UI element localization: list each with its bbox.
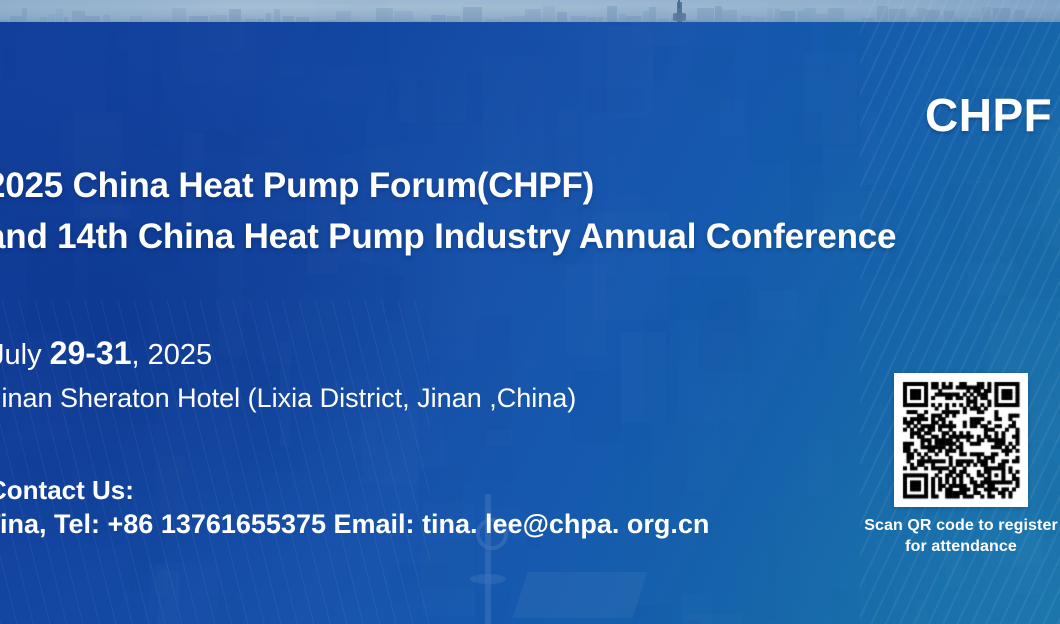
qr-caption-line-2: for attendance [830, 536, 1060, 557]
event-title: 2025 China Heat Pump Forum(CHPF) and 14t… [0, 160, 1060, 262]
event-date-days: 29-31 [50, 335, 132, 371]
contact-heading: Contact Us: [0, 472, 134, 508]
qr-code-canvas[interactable] [894, 373, 1028, 507]
skyline-photo-strip [0, 0, 1060, 24]
chpf-logo: CHPF [925, 92, 1052, 138]
qr-caption: Scan QR code to register for attendance [830, 515, 1060, 557]
skyline-buildings [0, 2, 1060, 24]
event-venue: Jinan Sheraton Hotel (Lixia District, Ji… [0, 378, 576, 418]
contact-details: Tina, Tel: +86 13761655375 Email: tina. … [0, 505, 709, 543]
skyline-tower-icon [677, 2, 682, 24]
event-date: July 29-31, 2025 [0, 332, 212, 376]
conference-banner: CHPF 2025 China Heat Pump Forum(CHPF) an… [0, 0, 1060, 624]
qr-caption-line-1: Scan QR code to register [830, 515, 1060, 536]
event-title-line-1: 2025 China Heat Pump Forum(CHPF) [0, 160, 1060, 211]
qr-code-icon[interactable] [894, 373, 1028, 507]
event-date-suffix: , 2025 [131, 339, 212, 371]
event-date-prefix: July [0, 339, 50, 371]
event-title-line-2: and 14th China Heat Pump Industry Annual… [0, 211, 1060, 262]
